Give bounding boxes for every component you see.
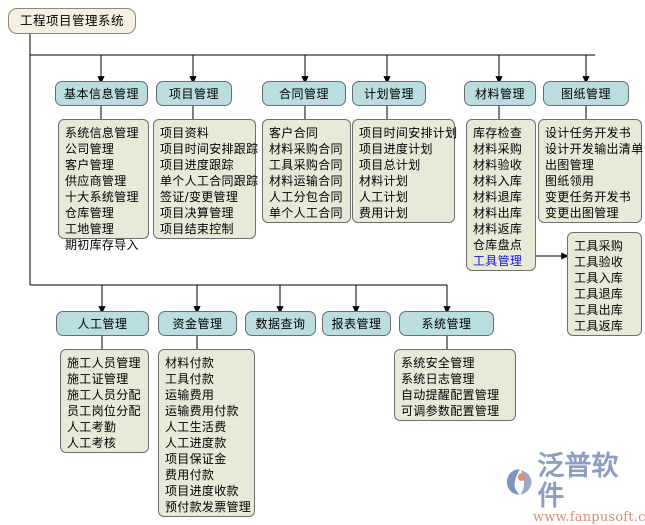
panel-plan: 项目时间安排计划 项目进度计划 项目总计划 材料计划 人工计划 费用计划 xyxy=(352,119,455,223)
list-item[interactable]: 人工计划 xyxy=(359,189,449,205)
list-item[interactable]: 图纸领用 xyxy=(545,173,636,189)
node-drawing[interactable]: 图纸管理 xyxy=(543,81,629,106)
list-item[interactable]: 出图管理 xyxy=(545,157,636,173)
node-contract-label: 合同管理 xyxy=(279,88,329,100)
list-item[interactable]: 项目进度跟踪 xyxy=(160,157,250,173)
list-item[interactable]: 人工考核 xyxy=(67,435,143,451)
list-item[interactable]: 仓库盘点 xyxy=(473,237,530,253)
node-system[interactable]: 系统管理 xyxy=(399,311,494,336)
node-labor[interactable]: 人工管理 xyxy=(56,311,149,336)
list-item[interactable]: 签证/变更管理 xyxy=(160,189,250,205)
list-item[interactable]: 自动提醒配置管理 xyxy=(401,387,510,403)
node-report-label: 报表管理 xyxy=(331,318,381,330)
list-item[interactable]: 项目保证金 xyxy=(165,451,249,467)
list-item[interactable]: 十大系统管理 xyxy=(65,189,143,205)
list-item[interactable]: 设计开发输出清单 xyxy=(545,141,636,157)
panel-tool: 工具采购 工具验收 工具入库 工具退库 工具出库 工具返库 xyxy=(567,232,642,336)
logo-name: 泛普软件 xyxy=(537,452,643,512)
node-plan-label: 计划管理 xyxy=(364,88,414,100)
list-item[interactable]: 材料验收 xyxy=(473,157,530,173)
list-item[interactable]: 工具验收 xyxy=(574,254,636,270)
list-item[interactable]: 工具返库 xyxy=(574,318,636,334)
list-item[interactable]: 材料返库 xyxy=(473,221,530,237)
node-material[interactable]: 材料管理 xyxy=(464,81,536,106)
list-item[interactable]: 人工进度款 xyxy=(165,435,249,451)
list-item[interactable]: 材料退库 xyxy=(473,189,530,205)
logo-url: www.fanpusoft.com xyxy=(533,510,645,525)
list-item[interactable]: 单个人工合同跟踪 xyxy=(160,173,250,189)
panel-system: 系统安全管理 系统日志管理 自动提醒配置管理 可调参数配置管理 xyxy=(394,349,516,421)
list-item[interactable]: 材料入库 xyxy=(473,173,530,189)
node-plan[interactable]: 计划管理 xyxy=(352,81,426,106)
list-item[interactable]: 客户合同 xyxy=(269,125,345,141)
list-item[interactable]: 施工人员管理 xyxy=(67,355,143,371)
list-item[interactable]: 公司管理 xyxy=(65,141,143,157)
list-item[interactable]: 材料出库 xyxy=(473,205,530,221)
panel-labor: 施工人员管理 施工证管理 施工人员分配 员工岗位分配 人工考勤 人工考核 xyxy=(60,349,149,453)
list-item[interactable]: 工具采购合同 xyxy=(269,157,345,173)
list-item[interactable]: 人工生活费 xyxy=(165,419,249,435)
list-item[interactable]: 预付款发票管理 xyxy=(165,499,249,515)
node-material-label: 材料管理 xyxy=(475,88,525,100)
list-item[interactable]: 人工考勤 xyxy=(67,419,143,435)
node-query[interactable]: 数据查询 xyxy=(245,311,316,336)
list-item[interactable]: 运输费用 xyxy=(165,387,249,403)
tool-management-link[interactable]: 工具管理 xyxy=(473,253,530,269)
list-item[interactable]: 工具出库 xyxy=(574,302,636,318)
list-item[interactable]: 系统安全管理 xyxy=(401,355,510,371)
list-item[interactable]: 库存检查 xyxy=(473,125,530,141)
list-item[interactable]: 人工分包合同 xyxy=(269,189,345,205)
diagram-canvas: 工程项目管理系统 基本信息管理 项目管理 合同管理 计划管理 材料管理 图纸管理… xyxy=(0,0,645,518)
node-basic-label: 基本信息管理 xyxy=(64,88,139,100)
list-item[interactable]: 材料计划 xyxy=(359,173,449,189)
list-item[interactable]: 材料运输合同 xyxy=(269,173,345,189)
list-item[interactable]: 供应商管理 xyxy=(65,173,143,189)
node-project-label: 项目管理 xyxy=(169,88,219,100)
fanpu-mark-icon xyxy=(505,467,534,497)
node-report[interactable]: 报表管理 xyxy=(322,311,391,336)
node-query-label: 数据查询 xyxy=(255,318,305,330)
list-item[interactable]: 客户管理 xyxy=(65,157,143,173)
node-fund-label: 资金管理 xyxy=(172,318,222,330)
list-item[interactable]: 项目决算管理 xyxy=(160,205,250,221)
node-contract[interactable]: 合同管理 xyxy=(262,81,346,106)
list-item[interactable]: 项目总计划 xyxy=(359,157,449,173)
list-item[interactable]: 设计任务开发书 xyxy=(545,125,636,141)
list-item[interactable]: 费用计划 xyxy=(359,205,449,221)
list-item[interactable]: 施工证管理 xyxy=(67,371,143,387)
panel-contract: 客户合同 材料采购合同 工具采购合同 材料运输合同 人工分包合同 单个人工合同 xyxy=(262,119,351,223)
panel-basic: 系统信息管理 公司管理 客户管理 供应商管理 十大系统管理 仓库管理 工地管理 … xyxy=(58,119,149,239)
list-item[interactable]: 变更任务开发书 xyxy=(545,189,636,205)
node-labor-label: 人工管理 xyxy=(77,318,127,330)
list-item[interactable]: 单个人工合同 xyxy=(269,205,345,221)
list-item[interactable]: 项目结束控制 xyxy=(160,221,250,237)
list-item[interactable]: 项目进度收款 xyxy=(165,483,249,499)
list-item[interactable]: 费用付款 xyxy=(165,467,249,483)
list-item[interactable]: 项目资料 xyxy=(160,125,250,141)
list-item[interactable]: 变更出图管理 xyxy=(545,205,636,221)
panel-drawing: 设计任务开发书 设计开发输出清单 出图管理 图纸领用 变更任务开发书 变更出图管… xyxy=(538,119,642,223)
list-item[interactable]: 工具退库 xyxy=(574,286,636,302)
logo-top-row: 泛普软件 xyxy=(505,452,643,512)
list-item[interactable]: 工具入库 xyxy=(574,270,636,286)
root-label: 工程项目管理系统 xyxy=(20,15,124,28)
list-item[interactable]: 期初库存导入 xyxy=(65,237,143,253)
node-basic[interactable]: 基本信息管理 xyxy=(55,81,148,106)
list-item[interactable]: 材料付款 xyxy=(165,355,249,371)
list-item[interactable]: 施工人员分配 xyxy=(67,387,143,403)
panel-project: 项目资料 项目时间安排跟踪 项目进度跟踪 单个人工合同跟踪 签证/变更管理 项目… xyxy=(153,119,256,239)
list-item[interactable]: 项目进度计划 xyxy=(359,141,449,157)
list-item[interactable]: 材料采购 xyxy=(473,141,530,157)
list-item[interactable]: 材料采购合同 xyxy=(269,141,345,157)
panel-material: 库存检查 材料采购 材料验收 材料入库 材料退库 材料出库 材料返库 仓库盘点 … xyxy=(466,119,536,271)
brand-logo: 泛普软件 www.fanpusoft.com xyxy=(505,462,643,514)
list-item[interactable]: 工具采购 xyxy=(574,238,636,254)
node-drawing-label: 图纸管理 xyxy=(561,88,611,100)
list-item[interactable]: 仓库管理 xyxy=(65,205,143,221)
list-item[interactable]: 员工岗位分配 xyxy=(67,403,143,419)
list-item[interactable]: 项目时间安排计划 xyxy=(359,125,449,141)
list-item[interactable]: 系统日志管理 xyxy=(401,371,510,387)
panel-fund: 材料付款 工具付款 运输费用 运输费用付款 人工生活费 人工进度款 项目保证金 … xyxy=(158,349,255,517)
list-item[interactable]: 可调参数配置管理 xyxy=(401,403,510,419)
node-system-label: 系统管理 xyxy=(421,318,471,330)
list-item[interactable]: 运输费用付款 xyxy=(165,403,249,419)
root-node[interactable]: 工程项目管理系统 xyxy=(8,8,136,34)
list-item[interactable]: 工地管理 xyxy=(65,221,143,237)
list-item[interactable]: 系统信息管理 xyxy=(65,125,143,141)
list-item[interactable]: 项目时间安排跟踪 xyxy=(160,141,250,157)
node-project[interactable]: 项目管理 xyxy=(156,81,232,106)
list-item[interactable]: 工具付款 xyxy=(165,371,249,387)
node-fund[interactable]: 资金管理 xyxy=(158,311,237,336)
